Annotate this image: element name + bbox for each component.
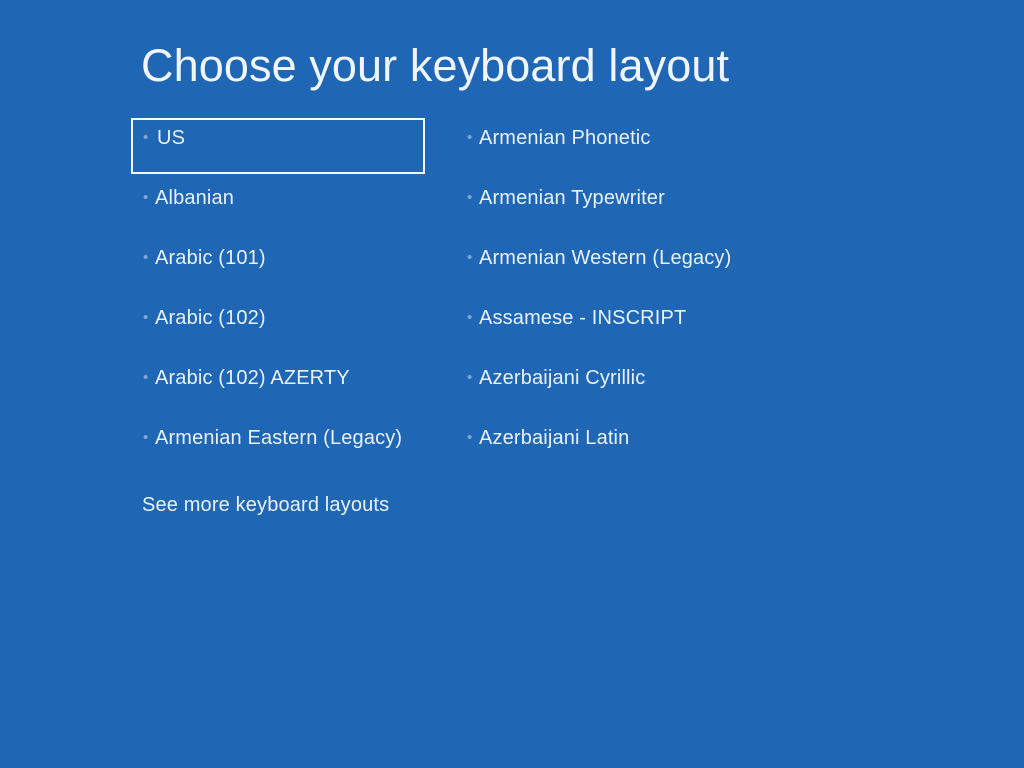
keyboard-layout-column-left: • US • Albanian • Arabic (101) • Arabic … (131, 118, 431, 478)
bullet-icon: • (131, 246, 155, 270)
layout-option-label: Armenian Typewriter (479, 186, 785, 210)
bullet-icon: • (131, 426, 155, 450)
keyboard-layout-column-right: • Armenian Phonetic • Armenian Typewrite… (455, 118, 785, 478)
layout-option-label: Armenian Western (Legacy) (479, 246, 785, 270)
layout-option-arabic-102[interactable]: • Arabic (102) (131, 298, 431, 358)
bullet-icon: • (455, 306, 479, 330)
layout-option-arabic-102-azerty[interactable]: • Arabic (102) AZERTY (131, 358, 431, 418)
bullet-icon: • (133, 126, 157, 150)
bullet-icon: • (131, 366, 155, 390)
layout-option-label: Armenian Eastern (Legacy) (155, 426, 431, 450)
layout-option-label: Armenian Phonetic (479, 126, 785, 150)
layout-option-azerbaijani-cyrillic[interactable]: • Azerbaijani Cyrillic (455, 358, 785, 418)
layout-option-label: Arabic (101) (155, 246, 431, 270)
layout-option-label: Assamese - INSCRIPT (479, 306, 785, 330)
layout-option-label: Arabic (102) AZERTY (155, 366, 431, 390)
layout-option-us[interactable]: • US (131, 118, 425, 174)
keyboard-layout-screen: Choose your keyboard layout • US • Alban… (0, 0, 1024, 768)
layout-option-armenian-western-legacy[interactable]: • Armenian Western (Legacy) (455, 238, 785, 298)
see-more-keyboard-layouts-link[interactable]: See more keyboard layouts (142, 492, 389, 518)
layout-option-assamese-inscript[interactable]: • Assamese - INSCRIPT (455, 298, 785, 358)
layout-option-label: Azerbaijani Cyrillic (479, 366, 785, 390)
layout-option-armenian-eastern-legacy[interactable]: • Armenian Eastern (Legacy) (131, 418, 431, 478)
bullet-icon: • (455, 186, 479, 210)
bullet-icon: • (455, 246, 479, 270)
layout-option-label: Albanian (155, 186, 431, 210)
bullet-icon: • (455, 126, 479, 150)
bullet-icon: • (131, 186, 155, 210)
layout-option-albanian[interactable]: • Albanian (131, 178, 431, 238)
layout-option-label: US (157, 126, 423, 150)
layout-option-armenian-phonetic[interactable]: • Armenian Phonetic (455, 118, 785, 178)
layout-option-armenian-typewriter[interactable]: • Armenian Typewriter (455, 178, 785, 238)
bullet-icon: • (455, 366, 479, 390)
layout-option-label: Arabic (102) (155, 306, 431, 330)
bullet-icon: • (131, 306, 155, 330)
keyboard-layout-list: • US • Albanian • Arabic (101) • Arabic … (0, 0, 1024, 768)
layout-option-azerbaijani-latin[interactable]: • Azerbaijani Latin (455, 418, 785, 478)
layout-option-arabic-101[interactable]: • Arabic (101) (131, 238, 431, 298)
layout-option-label: Azerbaijani Latin (479, 426, 785, 450)
bullet-icon: • (455, 426, 479, 450)
